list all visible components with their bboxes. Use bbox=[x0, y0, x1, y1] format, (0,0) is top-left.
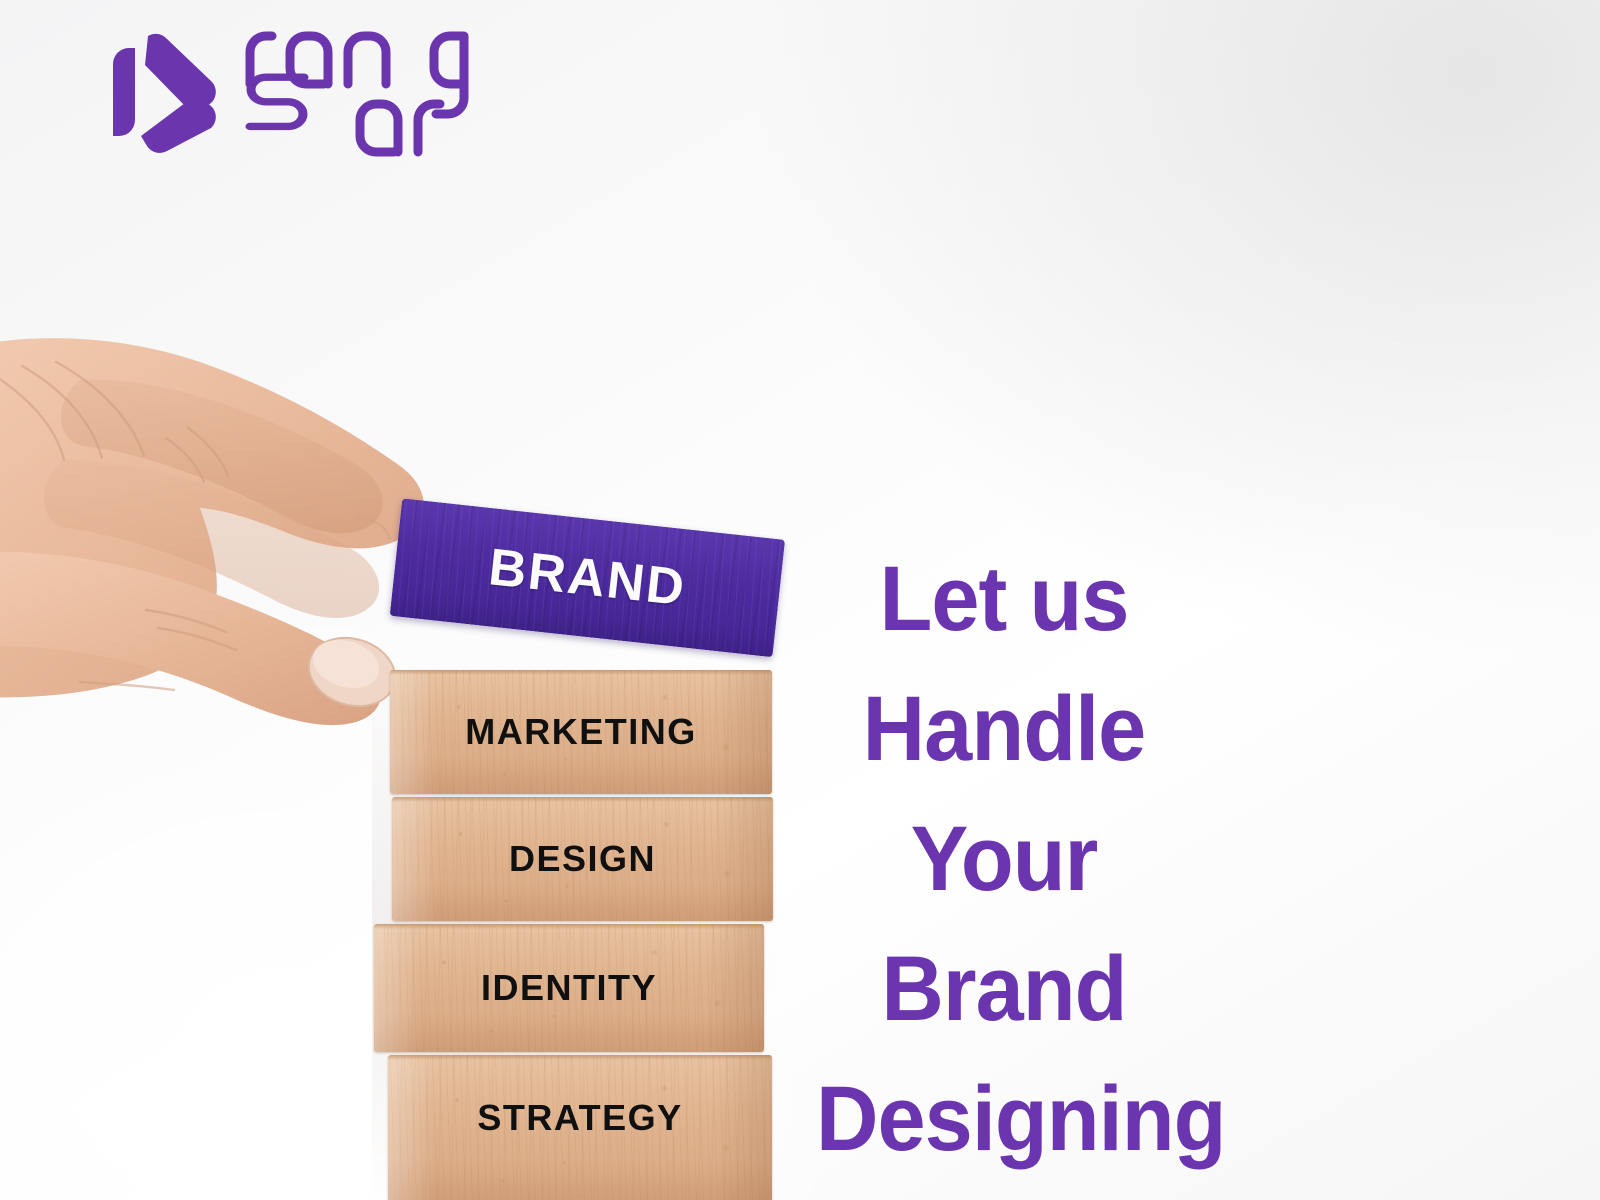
block-identity[interactable]: IDENTITY bbox=[374, 924, 764, 1052]
hero-photo: BRAND MARKETING DESIGN IDENTITY STRATEGY bbox=[0, 300, 800, 1200]
block-identity-label: IDENTITY bbox=[481, 967, 657, 1009]
block-brand-label: BRAND bbox=[486, 537, 689, 618]
block-marketing-label: MARKETING bbox=[465, 711, 697, 753]
rangsar-wordmark bbox=[242, 22, 502, 158]
headline-line-4: Brand bbox=[816, 924, 1192, 1054]
headline-line-2: Handle bbox=[816, 664, 1192, 794]
headline-line-1: Let us bbox=[816, 534, 1192, 664]
block-strategy-label: STRATEGY bbox=[477, 1097, 682, 1139]
poster-canvas: BRAND MARKETING DESIGN IDENTITY STRATEGY… bbox=[0, 0, 1600, 1200]
block-strategy[interactable]: STRATEGY bbox=[388, 1055, 772, 1200]
block-design-label: DESIGN bbox=[509, 838, 656, 880]
headline: Let us Handle Your Brand Designing bbox=[816, 534, 1516, 1184]
block-design[interactable]: DESIGN bbox=[392, 797, 773, 921]
brand-logo[interactable] bbox=[104, 20, 504, 160]
headline-line-5: Designing bbox=[816, 1054, 1474, 1184]
headline-line-3: Your bbox=[816, 794, 1192, 924]
rangsar-logo-mark bbox=[104, 30, 229, 155]
block-marketing[interactable]: MARKETING bbox=[390, 670, 772, 794]
